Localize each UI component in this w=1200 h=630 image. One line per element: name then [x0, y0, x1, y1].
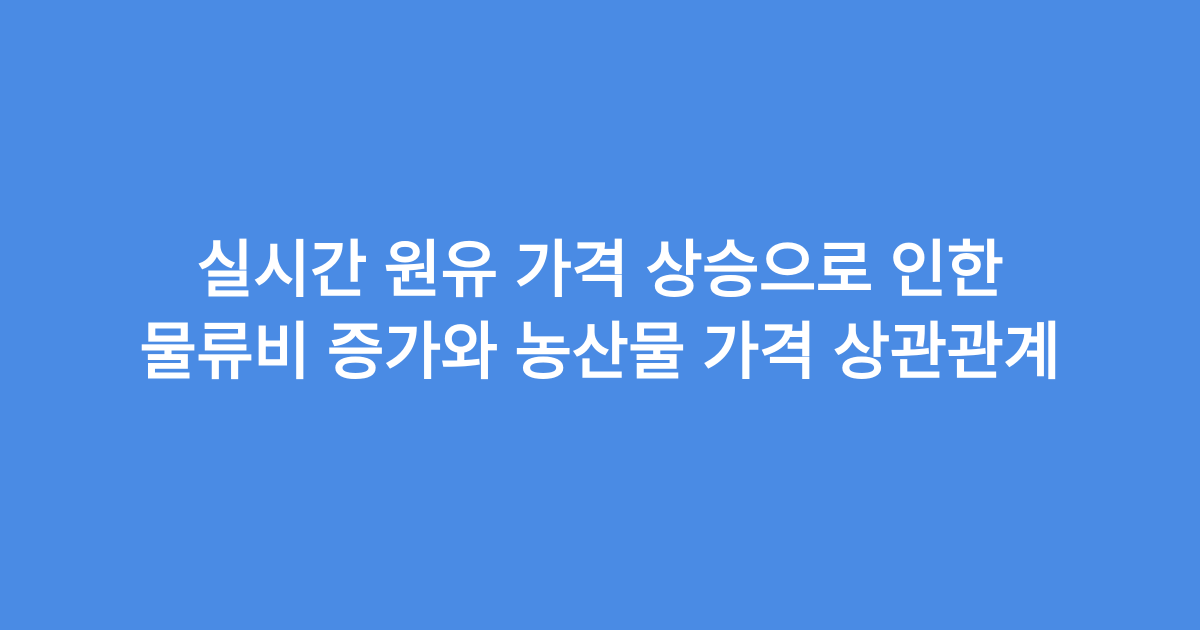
page-title: 실시간 원유 가격 상승으로 인한 물류비 증가와 농산물 가격 상관관계: [50, 230, 1150, 394]
og-title-card: 실시간 원유 가격 상승으로 인한 물류비 증가와 농산물 가격 상관관계: [0, 0, 1200, 630]
page-title-line-1: 실시간 원유 가격 상승으로 인한: [50, 230, 1150, 312]
page-title-line-2: 물류비 증가와 농산물 가격 상관관계: [50, 312, 1150, 394]
